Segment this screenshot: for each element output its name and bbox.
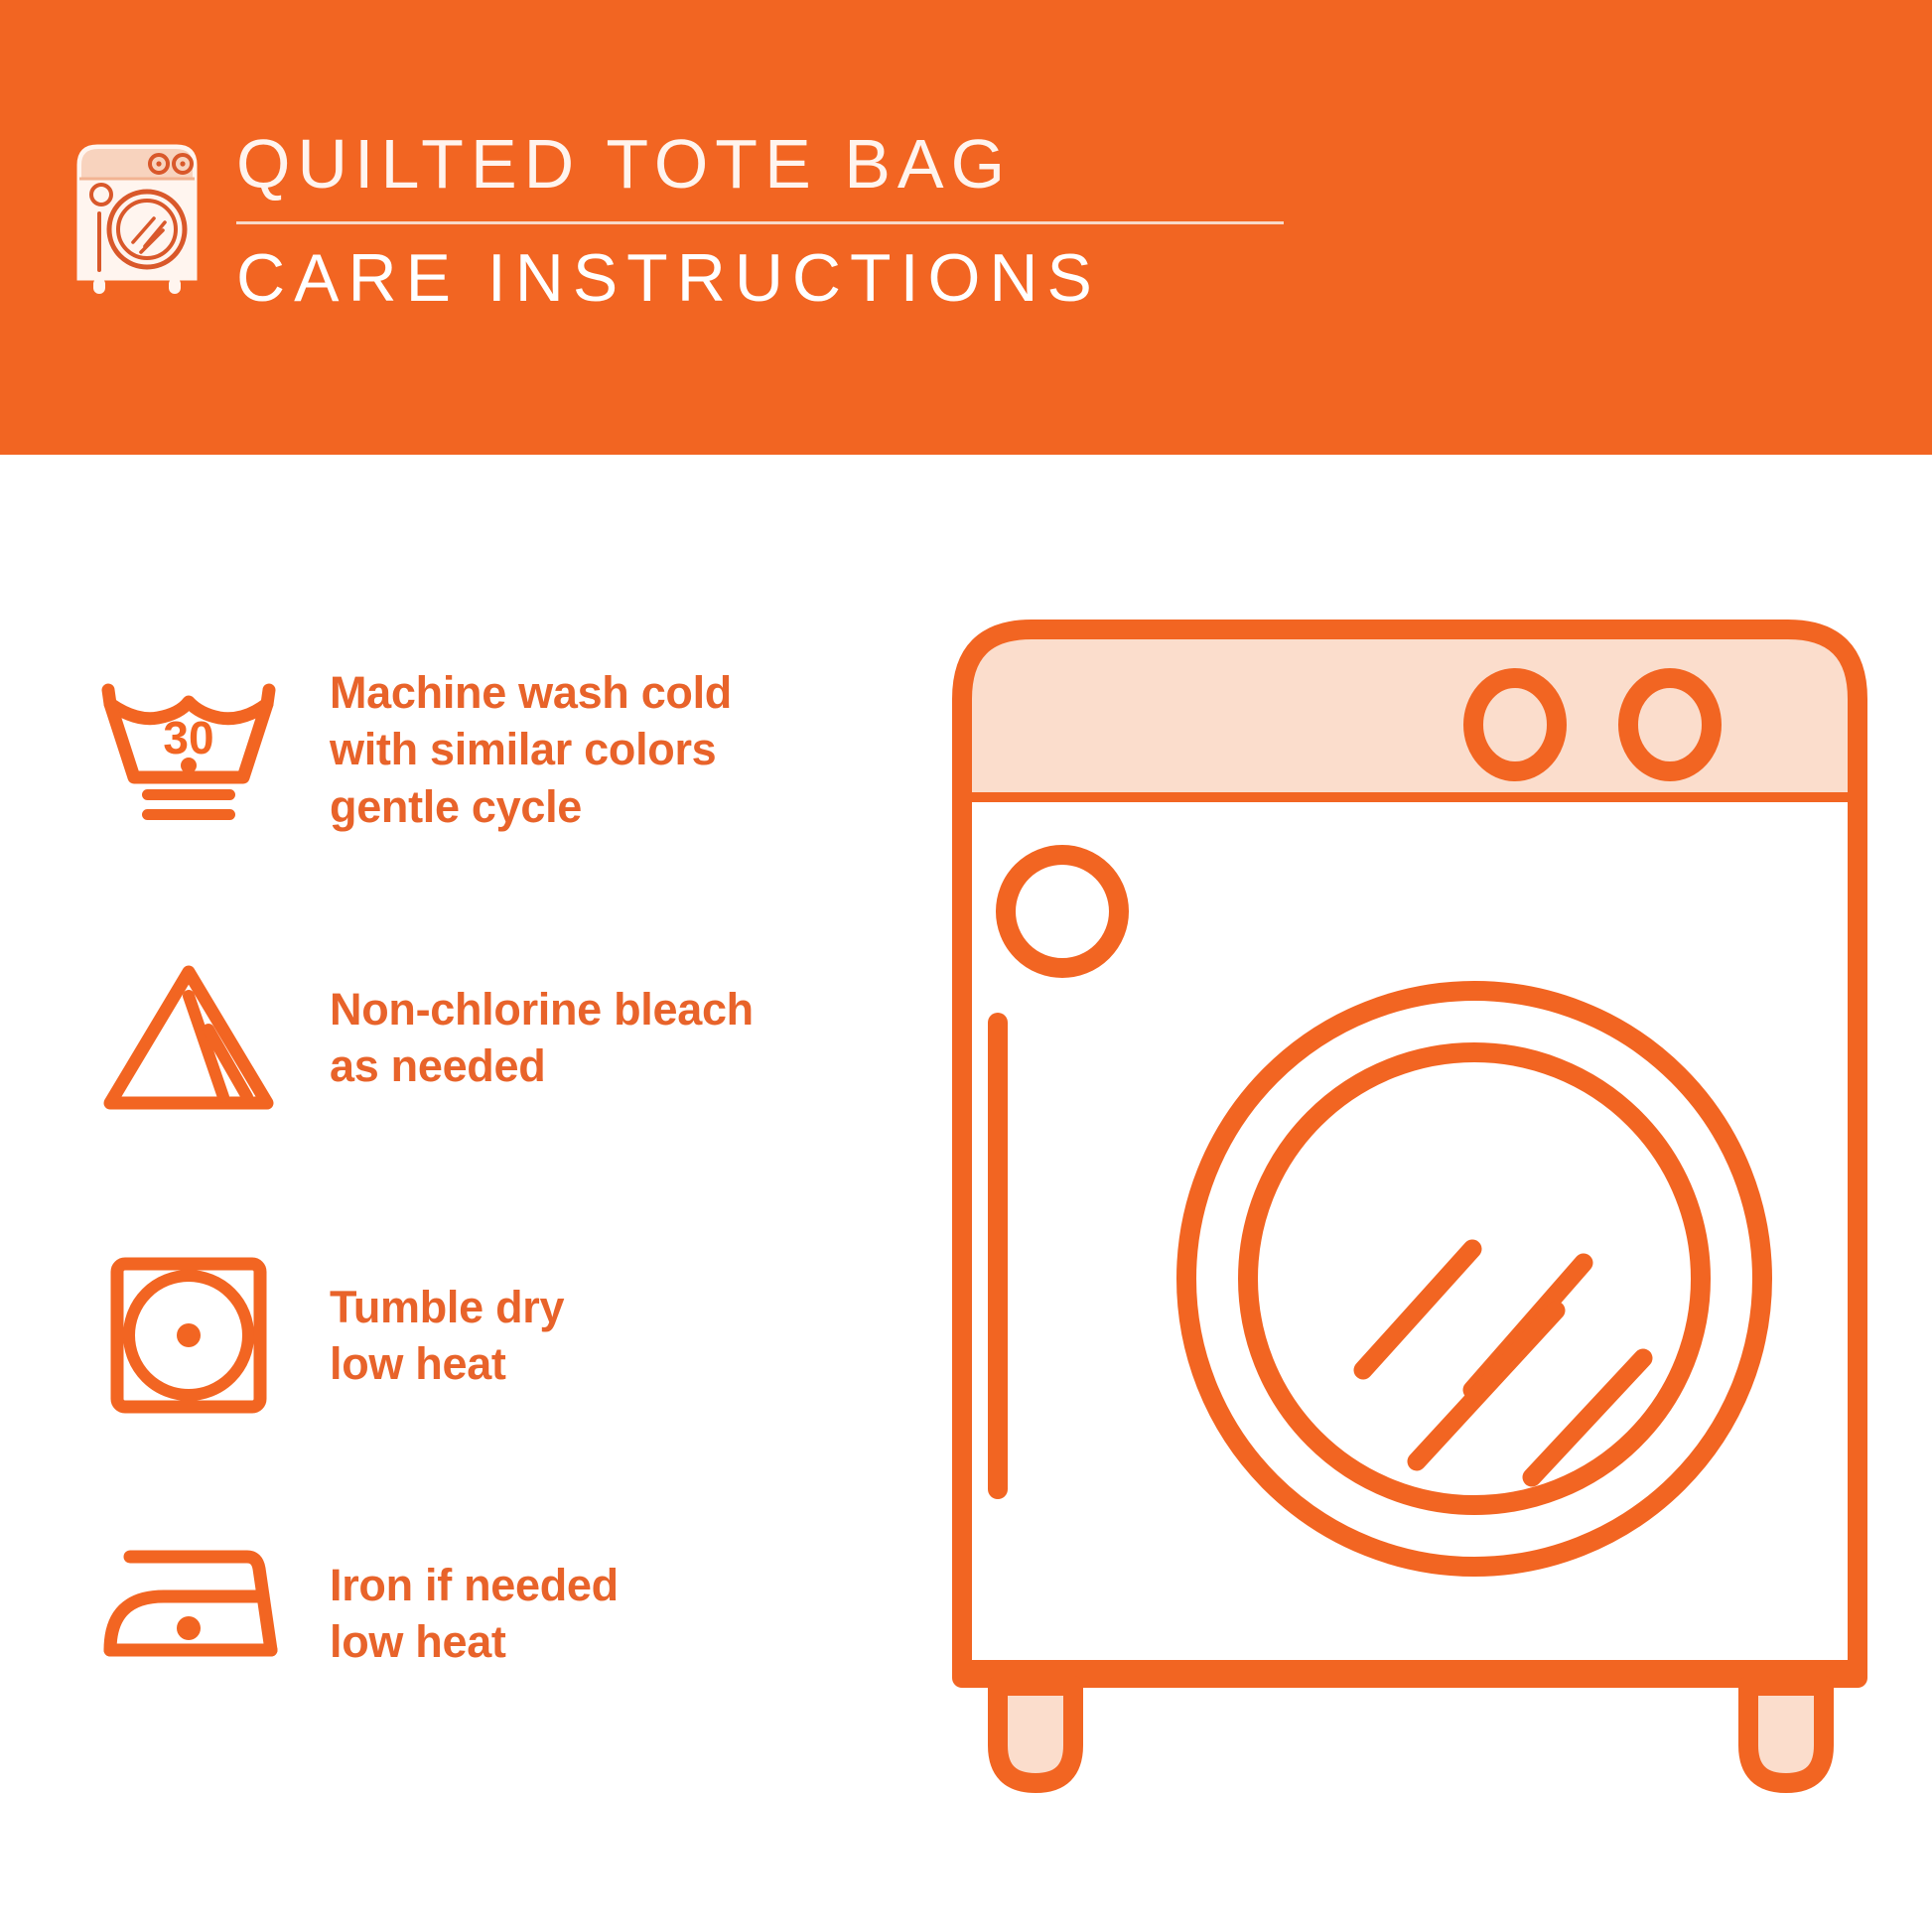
tumble-dry-icon: [109, 1256, 268, 1415]
care-line: Non-chlorine bleach: [330, 981, 754, 1037]
base-bar: [962, 1660, 1858, 1686]
low-heat-dot: [177, 1616, 201, 1640]
tumble-dry-icon-wrapper: [89, 1241, 288, 1430]
care-line: Tumble dry: [330, 1279, 564, 1335]
care-item-iron-text: Iron if needed low heat: [330, 1557, 619, 1670]
care-item-wash-text: Machine wash cold with similar colors ge…: [330, 664, 732, 834]
gentle-bar-2: [142, 809, 235, 820]
care-item-iron: Iron if needed low heat: [89, 1519, 884, 1708]
low-heat-dot: [177, 1323, 201, 1347]
leg-right: [1748, 1686, 1824, 1783]
care-line: as needed: [330, 1037, 754, 1094]
header-text-block: QUILTED TOTE BAG CARE INSTRUCTIONS: [236, 127, 1284, 312]
wash-tub-icon-wrapper: 30: [89, 655, 288, 844]
gentle-bar-1: [142, 789, 235, 800]
washing-machine-illustration: [948, 616, 1871, 1807]
control-panel: [962, 629, 1858, 802]
wash-tub-icon: 30: [96, 674, 281, 825]
page-subtitle: CARE INSTRUCTIONS: [236, 244, 1284, 312]
washing-machine-icon: [71, 131, 203, 298]
bleach-triangle-icon: [96, 958, 281, 1117]
iron-icon: [96, 1539, 281, 1688]
care-line: low heat: [330, 1613, 619, 1670]
wash-temperature-label: 30: [163, 712, 213, 763]
header-divider: [236, 221, 1284, 224]
header-content: QUILTED TOTE BAG CARE INSTRUCTIONS: [71, 127, 1284, 312]
leg-left: [998, 1686, 1073, 1783]
care-item-wash: 30 Machine wash cold with similar colors…: [89, 655, 884, 844]
care-item-tumble-dry-text: Tumble dry low heat: [330, 1279, 564, 1392]
machine-body: [962, 802, 1858, 1678]
iron-icon-wrapper: [89, 1519, 288, 1708]
care-item-tumble-dry: Tumble dry low heat: [89, 1241, 884, 1430]
care-line: Machine wash cold: [330, 664, 732, 721]
header-band: QUILTED TOTE BAG CARE INSTRUCTIONS: [0, 0, 1932, 455]
care-line: gentle cycle: [330, 778, 732, 835]
gentle-dot: [181, 758, 197, 773]
care-line: low heat: [330, 1335, 564, 1392]
page-title: QUILTED TOTE BAG: [236, 129, 1284, 199]
care-line: Iron if needed: [330, 1557, 619, 1613]
bleach-triangle-icon-wrapper: [89, 943, 288, 1132]
care-line: with similar colors: [330, 721, 732, 777]
care-item-bleach-text: Non-chlorine bleach as needed: [330, 981, 754, 1094]
care-item-bleach: Non-chlorine bleach as needed: [89, 943, 884, 1132]
